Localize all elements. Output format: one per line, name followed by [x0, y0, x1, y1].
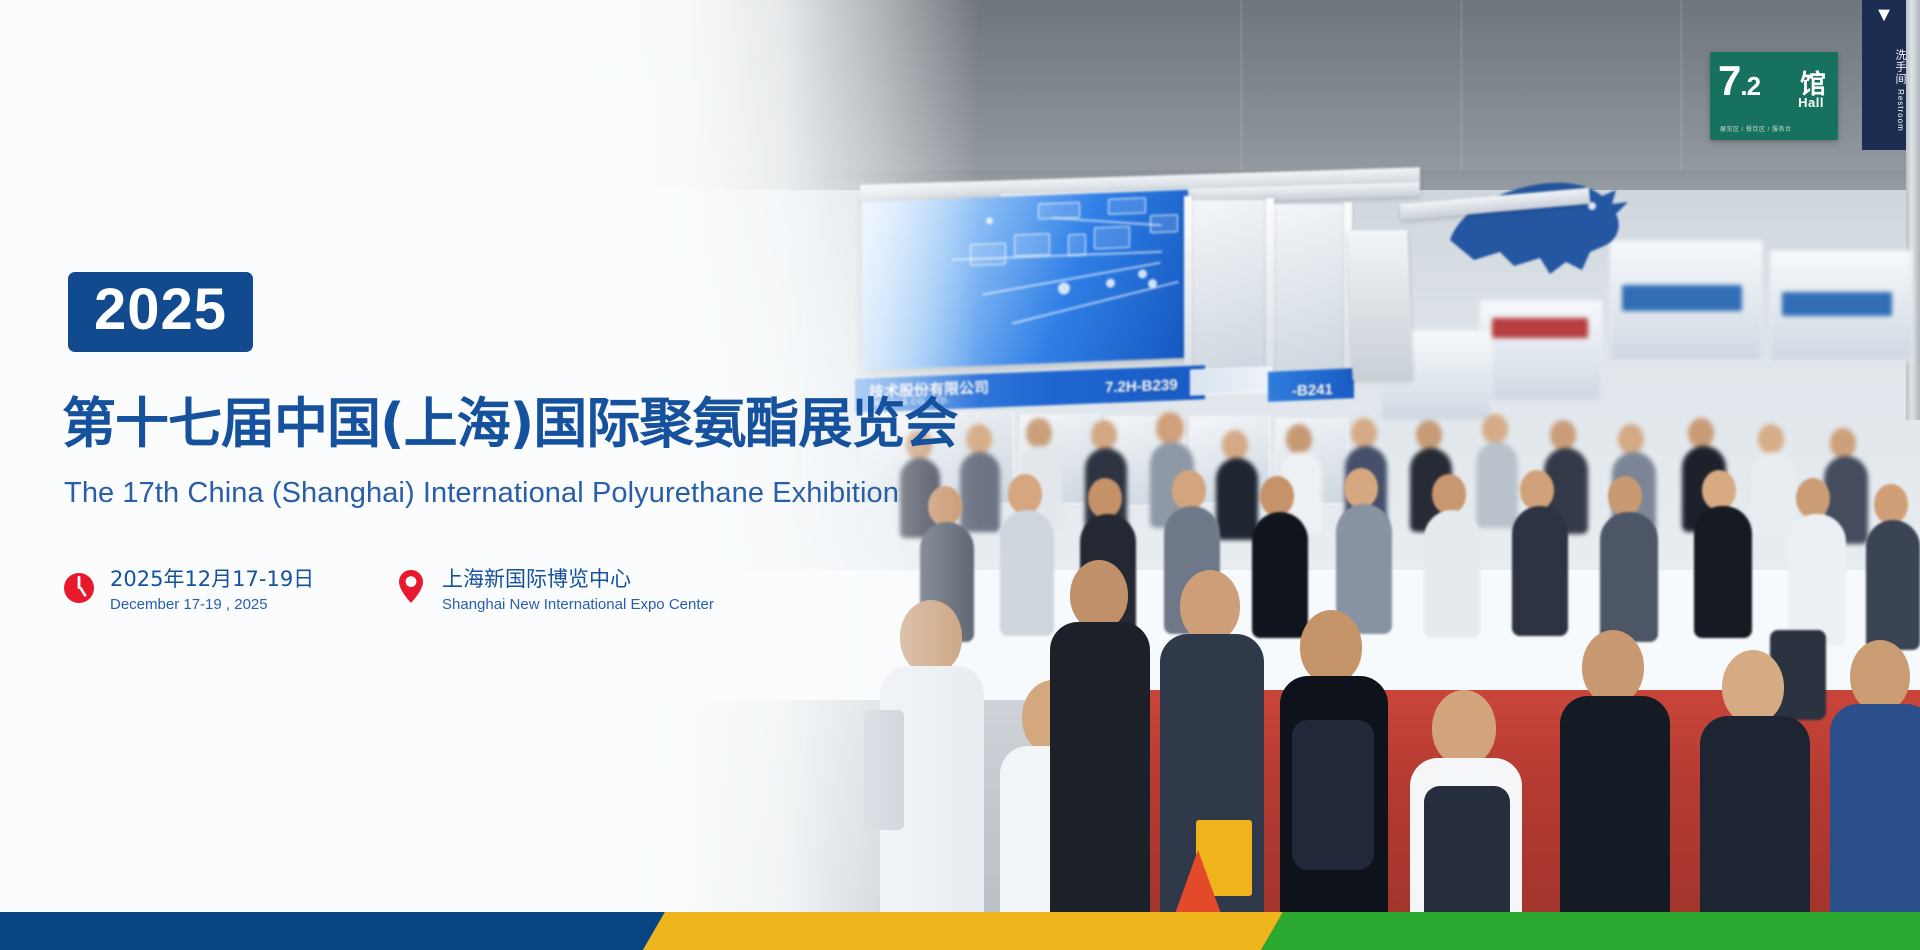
hall-number-sign: 7.2 馆 Hall 展览区 / 餐饮区 / 服务台 — [1710, 52, 1838, 140]
page-title-cn: 第十七届中国(上海)国际聚氨酯展览会 — [62, 395, 957, 452]
hall-sign-subtext: 展览区 / 餐饮区 / 服务台 — [1720, 124, 1792, 133]
booth-number-b241: -B241 — [1292, 381, 1333, 400]
booth-number-b239: 7.2H-B239 — [1105, 377, 1178, 397]
event-date-en: December 17-19 , 2025 — [110, 596, 268, 613]
location-pin-icon — [394, 566, 428, 606]
bar-segment-green — [1261, 912, 1920, 950]
restroom-sign-text: 洗手间 Restroom — [1862, 40, 1906, 140]
bar-segment-blue — [0, 912, 665, 950]
hall-sign-number: 7.2 — [1718, 60, 1760, 102]
exhibition-banner: 7.2 馆 Hall 展览区 / 餐饮区 / 服务台 ▼ 洗手间 Restroo… — [0, 0, 1920, 950]
clock-icon — [62, 566, 96, 606]
blue-dragon-sculpture — [1440, 170, 1650, 300]
event-info-row: 2025年12月17-19日 December 17-19 , 2025 上海新… — [62, 560, 822, 640]
banner-text-content: 2025 第十七届中国(上海)国际聚氨酯展览会 The 17th China (… — [0, 0, 980, 950]
event-venue-cn: 上海新国际博览中心 — [442, 563, 631, 593]
restroom-sign: ▼ 洗手间 Restroom — [1862, 0, 1906, 150]
event-date-cn: 2025年12月17-19日 — [110, 563, 314, 593]
event-venue-en: Shanghai New International Expo Center — [442, 596, 714, 613]
bottom-color-bar — [0, 912, 1920, 950]
bar-segment-yellow — [643, 912, 1283, 950]
page-title-en: The 17th China (Shanghai) International … — [64, 476, 899, 511]
down-arrow-icon: ▼ — [1862, 4, 1906, 27]
year-badge: 2025 — [68, 272, 253, 352]
hall-sign-label-en: Hall — [1798, 95, 1824, 110]
